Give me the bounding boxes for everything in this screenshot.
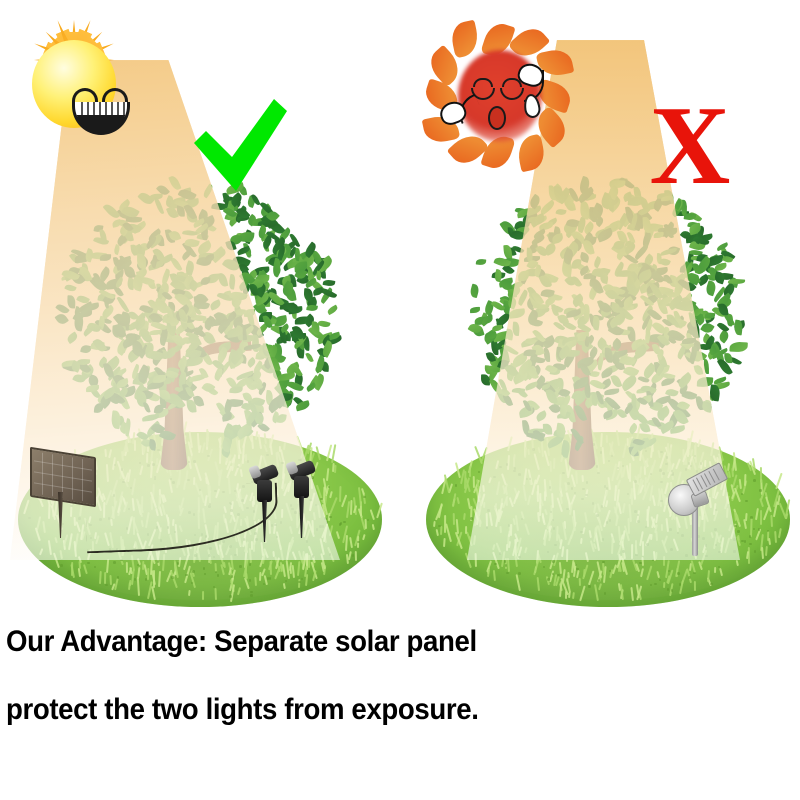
- smiling-sun-icon: [8, 18, 140, 150]
- grass-blade: [663, 556, 665, 566]
- leaf: [168, 175, 181, 192]
- grass-speck: [239, 565, 242, 568]
- grass-blade: [774, 531, 776, 543]
- grass-speck: [170, 478, 173, 481]
- grass-blade: [464, 552, 471, 568]
- grass-blade: [137, 577, 140, 596]
- leaf: [715, 241, 728, 251]
- grass-speck: [438, 525, 441, 528]
- grass-speck: [243, 538, 246, 541]
- grass-blade: [679, 580, 683, 594]
- grass-speck: [750, 516, 753, 519]
- grass-blade: [542, 513, 545, 523]
- leaf: [154, 197, 165, 216]
- grass-speck: [222, 540, 225, 543]
- leaf: [212, 367, 224, 382]
- grass-blade: [326, 468, 329, 481]
- sweating-hot-sun-icon: [418, 14, 578, 174]
- tree-canopy: [48, 168, 348, 468]
- grass-blade: [188, 590, 190, 596]
- grass-blade: [719, 568, 722, 576]
- grass-speck: [759, 489, 762, 492]
- grass-blade: [579, 586, 585, 602]
- grass-speck: [744, 540, 747, 543]
- grass-blade: [663, 582, 665, 588]
- grass-speck: [688, 576, 691, 579]
- grass-speck: [306, 540, 309, 543]
- grass-blade: [292, 551, 297, 560]
- grass-blade: [527, 495, 531, 505]
- grass-blade: [694, 581, 696, 591]
- grass-speck: [562, 472, 565, 475]
- grass-blade: [53, 553, 60, 569]
- check-icon: [190, 95, 290, 200]
- grass-blade: [724, 538, 730, 554]
- grass-speck: [285, 580, 288, 583]
- grass-blade: [515, 515, 519, 531]
- grass-blade: [650, 533, 652, 539]
- grass-blade: [537, 485, 539, 495]
- grass-blade: [656, 531, 658, 541]
- grass-speck: [552, 560, 555, 563]
- grass-blade: [558, 562, 561, 574]
- leaf: [475, 258, 486, 265]
- grass-speck: [734, 525, 737, 528]
- leaf: [469, 284, 480, 299]
- grass-speck: [121, 468, 124, 471]
- grass-blade: [605, 500, 608, 507]
- grass-blade: [483, 502, 485, 508]
- leaf: [66, 332, 79, 344]
- grass-blade: [202, 591, 204, 600]
- grass-speck: [229, 595, 232, 598]
- grass-blade: [239, 469, 242, 477]
- grass-speck: [634, 480, 637, 483]
- grass-blade: [40, 548, 44, 555]
- grass-speck: [172, 481, 175, 484]
- all-in-one-solar-light: [668, 470, 724, 556]
- grass-speck: [367, 519, 370, 522]
- grass-speck: [518, 473, 521, 476]
- grass-blade: [728, 471, 731, 478]
- leaf: [159, 389, 170, 400]
- grass-speck: [215, 571, 218, 574]
- grass-blade: [283, 583, 286, 590]
- grass-speck: [602, 538, 605, 541]
- leaf: [326, 305, 338, 315]
- grass-speck: [733, 550, 736, 553]
- grass-speck: [122, 481, 125, 484]
- grass-blade: [348, 551, 351, 560]
- grass-speck: [659, 579, 662, 582]
- grass-blade: [629, 504, 632, 522]
- grass-speck: [582, 488, 585, 491]
- grass-blade: [440, 526, 442, 535]
- leaf: [124, 265, 136, 278]
- leaf: [80, 310, 92, 317]
- grass-blade: [763, 507, 769, 520]
- grass-blade: [661, 524, 663, 531]
- grass-blade: [501, 473, 507, 485]
- leaf: [228, 275, 236, 290]
- leaf: [508, 308, 524, 319]
- leaf: [209, 299, 222, 311]
- sun-brow-left: [473, 78, 493, 87]
- leaf: [222, 412, 233, 422]
- leaf: [218, 272, 229, 287]
- grass-blade: [597, 561, 602, 578]
- leaf: [535, 410, 549, 422]
- grass-speck: [470, 517, 473, 520]
- grass-blade: [642, 541, 644, 556]
- grass-speck: [733, 538, 736, 541]
- grass-blade: [339, 486, 341, 502]
- grass-blade: [579, 578, 581, 586]
- grass-blade: [162, 554, 165, 571]
- grass-blade: [372, 524, 375, 530]
- grass-speck: [606, 521, 609, 524]
- grass-speck: [660, 500, 663, 503]
- leaf: [311, 321, 320, 335]
- grass-speck: [137, 564, 140, 567]
- grass-blade: [364, 519, 366, 529]
- grass-blade: [473, 476, 475, 488]
- grass-blade: [237, 587, 241, 595]
- grass-blade: [59, 550, 62, 559]
- grass-blade: [622, 503, 625, 513]
- grass-blade: [297, 561, 300, 576]
- leaf: [631, 393, 637, 407]
- sun-mouth: [488, 106, 506, 130]
- grass-blade: [355, 551, 357, 561]
- grass-blade: [341, 494, 347, 507]
- leaf: [277, 414, 287, 424]
- grass-blade: [755, 508, 758, 520]
- grass-blade: [482, 485, 484, 492]
- grass-speck: [455, 484, 458, 487]
- grass-blade: [510, 524, 512, 536]
- grass-speck: [209, 547, 212, 550]
- grass-blade: [486, 513, 488, 527]
- grass-blade: [533, 558, 539, 575]
- grass-blade: [575, 471, 577, 484]
- grass-blade: [370, 509, 375, 520]
- grass-speck: [229, 545, 232, 548]
- grass-blade: [652, 495, 656, 506]
- grass-speck: [645, 526, 648, 529]
- grass-blade: [280, 562, 282, 570]
- leaf: [303, 288, 313, 302]
- grass-blade: [739, 479, 742, 490]
- leaf: [704, 359, 709, 374]
- grass-blade: [663, 535, 668, 545]
- grass-speck: [571, 487, 574, 490]
- grass-blade: [620, 584, 624, 600]
- grass-speck: [567, 482, 570, 485]
- leaf: [654, 232, 664, 238]
- grass-speck: [604, 592, 607, 595]
- leaf: [555, 423, 566, 438]
- leaf: [544, 242, 559, 256]
- grass-blade: [469, 536, 472, 542]
- grass-speck: [250, 594, 253, 597]
- grass-speck: [547, 578, 550, 581]
- grass-blade: [487, 569, 490, 577]
- grass-blade: [83, 565, 88, 575]
- grass-speck: [105, 584, 108, 587]
- grass-speck: [518, 556, 521, 559]
- grass-speck: [575, 564, 578, 567]
- grass-speck: [154, 478, 157, 481]
- leaf: [149, 438, 158, 450]
- sun-face-disc: [32, 40, 116, 128]
- grass-speck: [585, 494, 588, 497]
- grass-blade: [489, 512, 493, 526]
- grass-speck: [554, 544, 557, 547]
- grass-blade: [137, 567, 140, 579]
- sun-flame-ray: [449, 19, 482, 58]
- grass-blade: [496, 481, 500, 495]
- grass-blade: [455, 519, 458, 534]
- grass-speck: [157, 560, 160, 563]
- leaf: [230, 385, 243, 393]
- grass-blade: [522, 485, 526, 501]
- grass-blade: [761, 547, 764, 559]
- grass-speck: [234, 554, 237, 557]
- grass-speck: [478, 471, 481, 474]
- grass-blade: [251, 541, 253, 550]
- grass-speck: [328, 486, 331, 489]
- leaf: [306, 352, 315, 363]
- leaf: [491, 325, 502, 332]
- grass-speck: [250, 591, 253, 594]
- leaf: [201, 276, 211, 285]
- leaf: [610, 374, 622, 389]
- grass-speck: [566, 508, 569, 511]
- grass-blade: [505, 497, 507, 506]
- grass-blade: [433, 521, 435, 528]
- grass-speck: [204, 573, 207, 576]
- grass-speck: [326, 521, 329, 524]
- leaf: [93, 337, 108, 354]
- grass-blade: [345, 535, 348, 551]
- leaf: [142, 402, 150, 414]
- grass-blade: [443, 538, 445, 547]
- grass-speck: [518, 572, 521, 575]
- grass-blade: [584, 512, 588, 523]
- grass-speck: [737, 530, 740, 533]
- grass-blade: [588, 530, 591, 539]
- grass-blade: [745, 513, 747, 521]
- grass-speck: [622, 550, 625, 553]
- grass-speck: [637, 520, 640, 523]
- grass-speck: [185, 574, 188, 577]
- spotlight-1: [248, 468, 282, 542]
- leaf: [524, 381, 538, 391]
- grass-speck: [508, 524, 511, 527]
- leaf: [627, 422, 639, 434]
- sun-eye-left: [72, 88, 98, 102]
- grass-blade: [104, 572, 106, 584]
- grass-speck: [298, 581, 301, 584]
- leaf: [570, 274, 583, 288]
- grass-speck: [506, 572, 509, 575]
- grass-speck: [659, 469, 662, 472]
- grass-speck: [671, 589, 674, 592]
- grass-blade: [524, 524, 529, 536]
- leaf: [137, 189, 154, 206]
- grass-blade: [523, 468, 527, 485]
- leaf: [54, 312, 68, 327]
- grass-speck: [637, 514, 640, 517]
- grass-speck: [493, 476, 496, 479]
- grass-blade: [536, 577, 539, 591]
- grass-speck: [557, 574, 560, 577]
- grass-blade: [109, 575, 111, 585]
- grass-speck: [749, 543, 752, 546]
- grass-speck: [586, 481, 589, 484]
- grass-blade: [260, 542, 263, 556]
- leaf: [469, 307, 479, 313]
- grass-speck: [552, 519, 555, 522]
- grass-speck: [352, 554, 355, 557]
- grass-speck: [753, 479, 756, 482]
- grass-speck: [94, 566, 97, 569]
- left-scene-separate-panel: [0, 0, 400, 620]
- grass-speck: [203, 567, 206, 570]
- leaf: [556, 208, 568, 217]
- grass-blade: [760, 510, 762, 525]
- leaf: [599, 272, 609, 284]
- grass-speck: [322, 525, 325, 528]
- grass-blade: [350, 500, 352, 515]
- grass-speck: [677, 572, 680, 575]
- grass-blade: [151, 586, 155, 600]
- grass-blade: [655, 514, 658, 523]
- leaf: [100, 253, 111, 260]
- grass-blade: [346, 501, 350, 518]
- grass-blade: [656, 571, 659, 578]
- grass-speck: [301, 578, 304, 581]
- grass-blade: [778, 528, 781, 538]
- leaf: [562, 320, 576, 333]
- grass-blade: [463, 513, 465, 520]
- grass-speck: [754, 550, 757, 553]
- grass-speck: [249, 579, 252, 582]
- leaf: [603, 389, 619, 396]
- tree-canopy: [456, 168, 756, 468]
- grass-speck: [134, 578, 137, 581]
- grass-blade: [580, 538, 582, 544]
- grass-blade: [329, 497, 337, 514]
- grass-blade: [473, 535, 476, 545]
- grass-blade: [147, 568, 149, 580]
- grass-speck: [646, 543, 649, 546]
- grass-speck: [588, 585, 591, 588]
- spotlight-body: [257, 480, 272, 502]
- grass-speck: [513, 470, 516, 473]
- grass-blade: [291, 565, 294, 578]
- grass-blade: [106, 559, 109, 573]
- leaf: [551, 233, 564, 244]
- grass-speck: [192, 570, 195, 573]
- grass-blade: [329, 525, 333, 536]
- leaf: [317, 319, 331, 329]
- grass-speck: [662, 472, 665, 475]
- caption-line-1: Our Advantage: Separate solar panel: [6, 625, 595, 659]
- grass-blade: [77, 568, 80, 577]
- solar-panel-stake: [58, 492, 63, 538]
- grass-blade: [765, 546, 767, 556]
- grass-speck: [710, 583, 713, 586]
- grass-blade: [631, 544, 633, 559]
- grass-speck: [650, 473, 653, 476]
- grass-blade: [436, 529, 439, 536]
- grass-speck: [217, 574, 220, 577]
- grass-blade: [544, 509, 547, 515]
- grass-speck: [343, 521, 346, 524]
- grass-speck: [598, 579, 601, 582]
- grass-blade: [99, 571, 101, 584]
- grass-blade: [23, 499, 29, 514]
- grass-speck: [499, 552, 502, 555]
- grass-blade: [453, 513, 455, 525]
- grass-blade: [572, 592, 574, 599]
- grass-speck: [660, 481, 663, 484]
- leaf: [323, 279, 336, 287]
- grass-blade: [611, 537, 613, 554]
- spotlight-spike: [262, 500, 267, 542]
- grass-blade: [349, 537, 352, 548]
- leaf: [137, 254, 146, 269]
- grass-speck: [486, 526, 489, 529]
- grass-speck: [487, 509, 490, 512]
- leaf: [559, 440, 570, 458]
- grass-blade: [507, 558, 510, 572]
- caption-block: Our Advantage: Separate solar panel prot…: [6, 625, 646, 727]
- grass-blade: [559, 474, 561, 491]
- grass-blade: [129, 580, 131, 586]
- grass-blade: [735, 560, 738, 566]
- grass-blade: [253, 542, 255, 552]
- leaf: [64, 283, 76, 293]
- grass-blade: [567, 534, 572, 545]
- grass-blade: [329, 491, 332, 499]
- grass-blade: [126, 562, 128, 573]
- grass-blade: [456, 497, 459, 505]
- grass-blade: [544, 540, 546, 547]
- grass-speck: [693, 572, 696, 575]
- sun-flame-ray: [515, 134, 548, 173]
- spotlight-body: [294, 476, 309, 498]
- grass-blade: [567, 572, 569, 579]
- leaf: [67, 295, 75, 308]
- grass-blade: [452, 493, 456, 507]
- leaf: [544, 348, 551, 362]
- grass-speck: [553, 527, 556, 530]
- leaf: [729, 342, 747, 353]
- grass-speck: [749, 535, 752, 538]
- grass-blade: [775, 473, 782, 490]
- grass-blade: [475, 553, 477, 568]
- grass-speck: [213, 556, 216, 559]
- grass-speck: [758, 528, 761, 531]
- spotlight-spike: [299, 496, 304, 538]
- grass-blade: [524, 547, 527, 553]
- grass-speck: [117, 576, 120, 579]
- grass-blade: [582, 475, 584, 482]
- grass-speck: [249, 563, 252, 566]
